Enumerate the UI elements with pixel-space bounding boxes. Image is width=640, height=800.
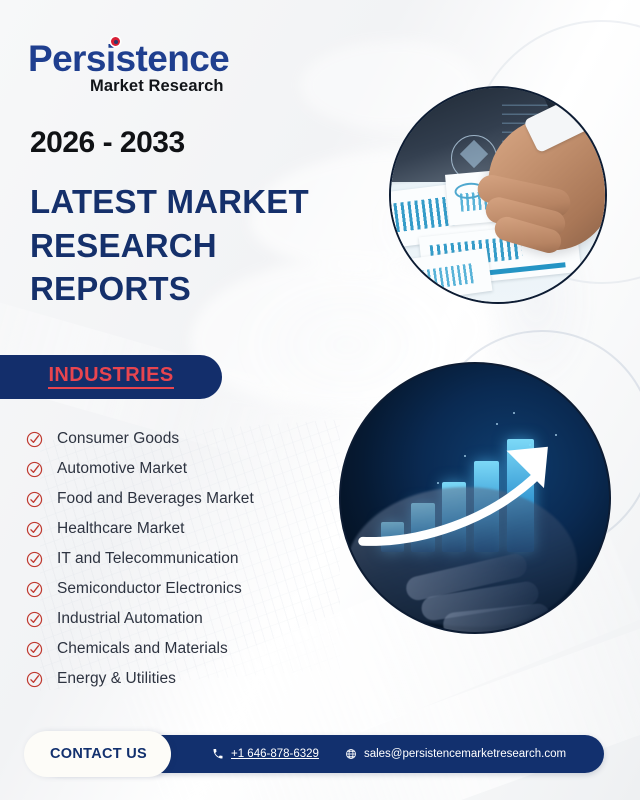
page-title: LATEST MARKET RESEARCH REPORTS <box>30 180 360 311</box>
check-circle-icon <box>26 521 43 538</box>
list-item-label: Food and Beverages Market <box>57 491 254 507</box>
list-item-label: Consumer Goods <box>57 431 179 447</box>
brand-logo[interactable]: Persistence Market Research <box>28 40 278 95</box>
contact-us-label: CONTACT US <box>50 746 147 762</box>
list-item[interactable]: Consumer Goods <box>26 424 326 454</box>
list-item-label: Industrial Automation <box>57 611 203 627</box>
list-item[interactable]: Energy & Utilities <box>26 664 326 694</box>
logo-wordmark-text: Persistence <box>28 38 229 79</box>
contact-us-button[interactable]: CONTACT US <box>24 731 171 777</box>
logo-wordmark: Persistence <box>28 40 229 77</box>
list-item[interactable]: Industrial Automation <box>26 604 326 634</box>
check-circle-icon <box>26 461 43 478</box>
contact-details: +1 646-878-6329 sales@persistencemarketr… <box>212 748 566 760</box>
logo-tagline: Market Research <box>90 78 278 95</box>
page-title-line-1: LATEST MARKET <box>30 180 360 224</box>
list-item[interactable]: IT and Telecommunication <box>26 544 326 574</box>
list-item-label: Automotive Market <box>57 461 187 477</box>
check-circle-icon <box>26 491 43 508</box>
list-item[interactable]: Food and Beverages Market <box>26 484 326 514</box>
list-item-label: Healthcare Market <box>57 521 184 537</box>
list-item-label: Energy & Utilities <box>57 671 176 687</box>
globe-icon <box>345 748 357 760</box>
logo-gear-dot-icon <box>111 37 120 46</box>
industries-badge-label: INDUSTRIES <box>48 365 173 389</box>
check-circle-icon <box>26 611 43 628</box>
list-item-label: Chemicals and Materials <box>57 641 228 657</box>
contact-phone[interactable]: +1 646-878-6329 <box>212 748 319 760</box>
poster-canvas: Persistence Market Research 2026 - 2033 … <box>0 0 640 800</box>
contact-email[interactable]: sales@persistencemarketresearch.com <box>345 748 566 760</box>
contact-bar: CONTACT US +1 646-878-6329 sales@persist… <box>42 735 604 773</box>
contact-phone-text: +1 646-878-6329 <box>231 748 319 760</box>
check-circle-icon <box>26 431 43 448</box>
phone-icon <box>212 748 224 760</box>
industries-badge: INDUSTRIES <box>0 355 222 399</box>
list-item[interactable]: Healthcare Market <box>26 514 326 544</box>
list-item[interactable]: Automotive Market <box>26 454 326 484</box>
check-circle-icon <box>26 641 43 658</box>
page-title-line-3: REPORTS <box>30 267 360 311</box>
check-circle-icon <box>26 671 43 688</box>
growth-photo-arrow-icon <box>341 364 609 632</box>
contact-email-text: sales@persistencemarketresearch.com <box>364 748 566 760</box>
forecast-years: 2026 - 2033 <box>30 126 185 160</box>
list-item-label: Semiconductor Electronics <box>57 581 242 597</box>
list-item[interactable]: Chemicals and Materials <box>26 634 326 664</box>
page-title-line-2: RESEARCH <box>30 224 360 268</box>
list-item[interactable]: Semiconductor Electronics <box>26 574 326 604</box>
report-photo <box>389 86 607 304</box>
growth-chart-photo <box>339 362 611 634</box>
list-item-label: IT and Telecommunication <box>57 551 239 567</box>
industries-list: Consumer Goods Automotive Market Food an… <box>26 424 326 694</box>
check-circle-icon <box>26 551 43 568</box>
check-circle-icon <box>26 581 43 598</box>
